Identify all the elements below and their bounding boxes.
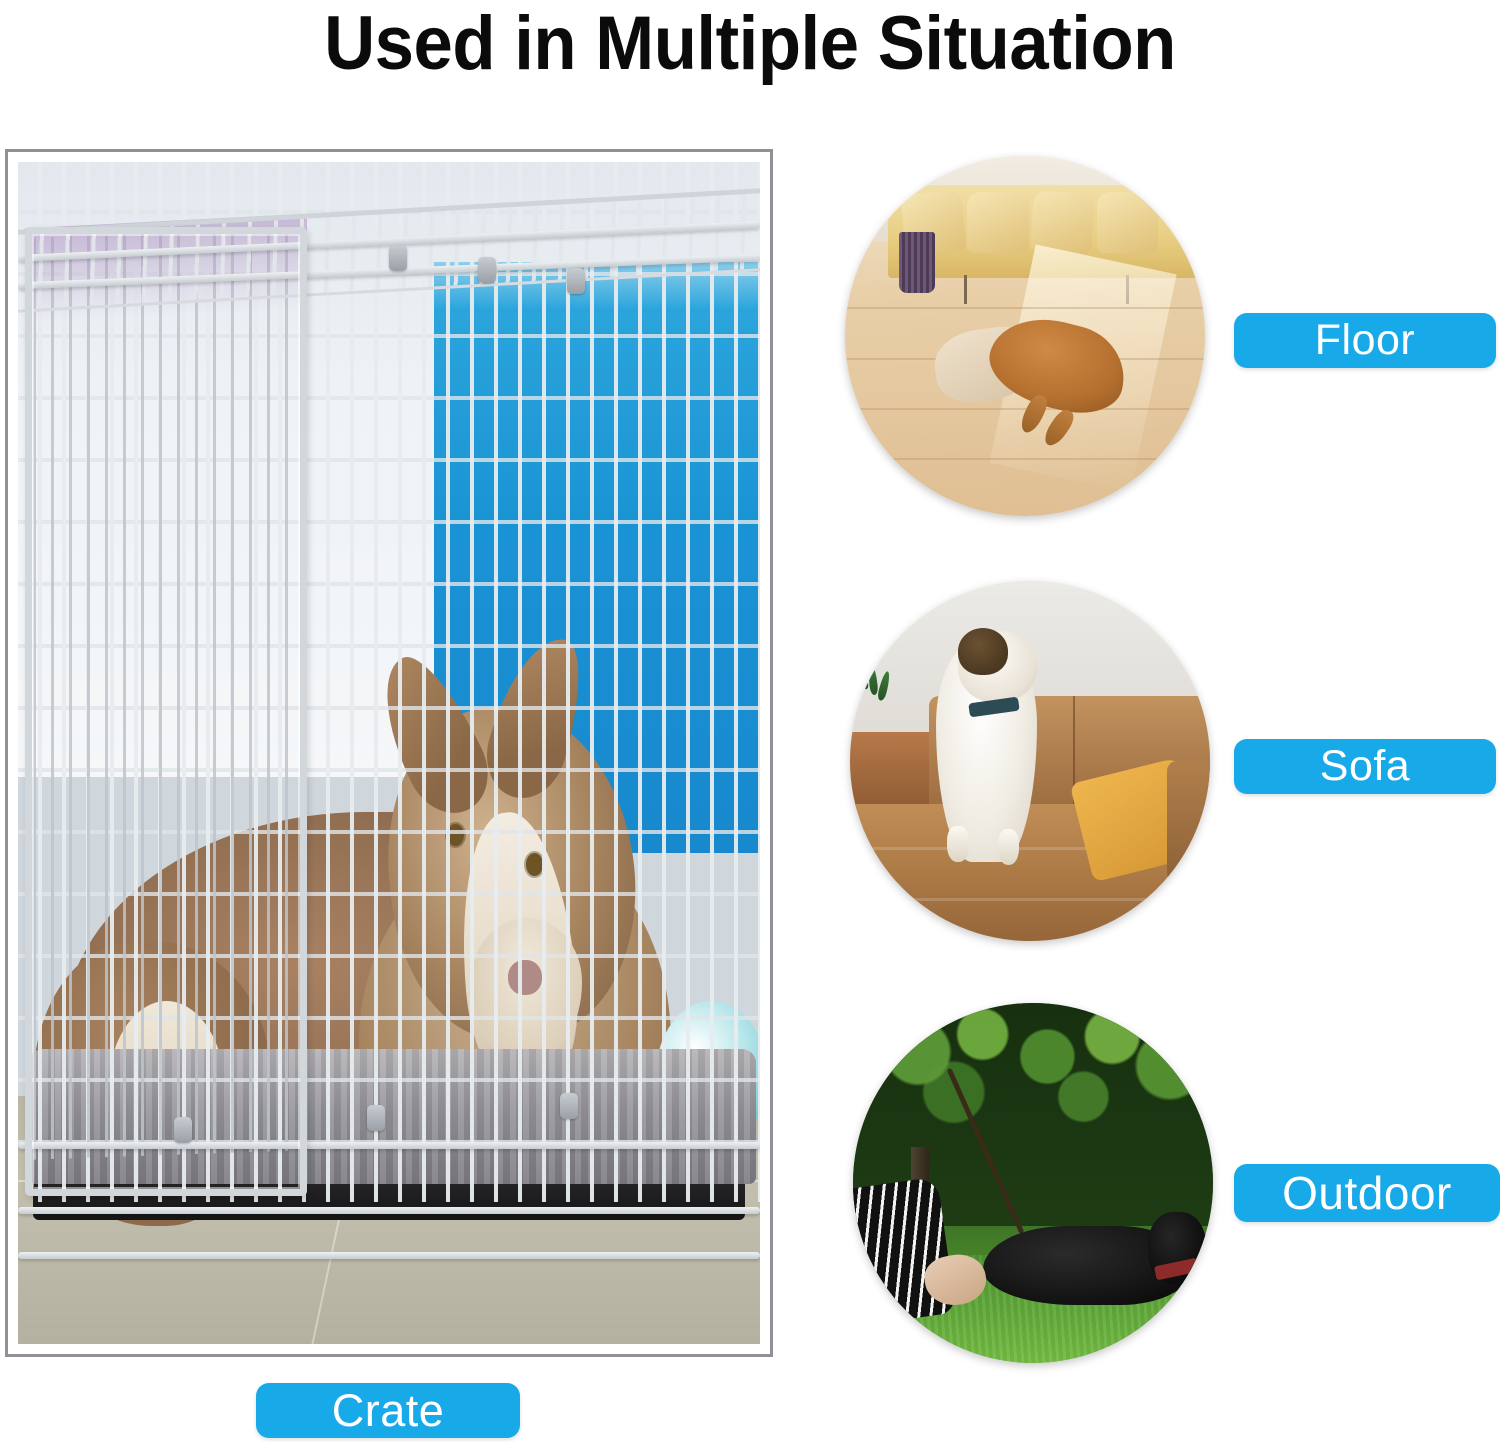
- floor-scene-striped-vase: [899, 232, 935, 293]
- situation-image-sofa: [850, 581, 1210, 941]
- floor-scene-sofa-leg-1: [964, 275, 967, 304]
- page-title: Used in Multiple Situation: [53, 0, 1448, 92]
- sofa-scene-dog-curls: [958, 628, 1008, 675]
- pet-bed-plush-cushion: [29, 1049, 756, 1185]
- dog-eye-left: [447, 824, 464, 846]
- situation-image-floor: [845, 156, 1205, 516]
- sofa-scene-leaf-2: [867, 664, 879, 695]
- situation-badge-crate[interactable]: Crate: [256, 1383, 520, 1438]
- infographic-page: Used in Multiple Situation: [0, 0, 1500, 1442]
- situation-badge-floor[interactable]: Floor: [1234, 313, 1496, 368]
- sofa-scene-leaf-3: [876, 670, 891, 701]
- sofa-scene-dog-paw-2: [998, 829, 1020, 865]
- situation-badge-outdoor[interactable]: Outdoor: [1234, 1164, 1500, 1222]
- floor-scene-plank-4: [845, 458, 1205, 460]
- floor-scene-cushion-2: [967, 192, 1028, 253]
- sofa-scene-planter: [850, 732, 936, 811]
- sofa-scene-armrest: [1167, 761, 1210, 883]
- outdoor-scene-icon: [853, 1003, 1213, 1363]
- floor-scene-icon: [845, 156, 1205, 516]
- crate-photo: [18, 162, 760, 1344]
- sofa-scene-seat-seam-2: [850, 898, 1210, 901]
- sofa-scene-icon: [850, 581, 1210, 941]
- dog-nose: [508, 960, 542, 995]
- situation-badge-sofa[interactable]: Sofa: [1234, 739, 1496, 794]
- sofa-scene-dog-paw-1: [947, 826, 969, 862]
- floor-scene-plank-1: [845, 307, 1205, 309]
- situation-image-outdoor: [853, 1003, 1213, 1363]
- floor-scene-cushion-4: [1097, 192, 1158, 253]
- crate-photo-frame: [5, 149, 773, 1357]
